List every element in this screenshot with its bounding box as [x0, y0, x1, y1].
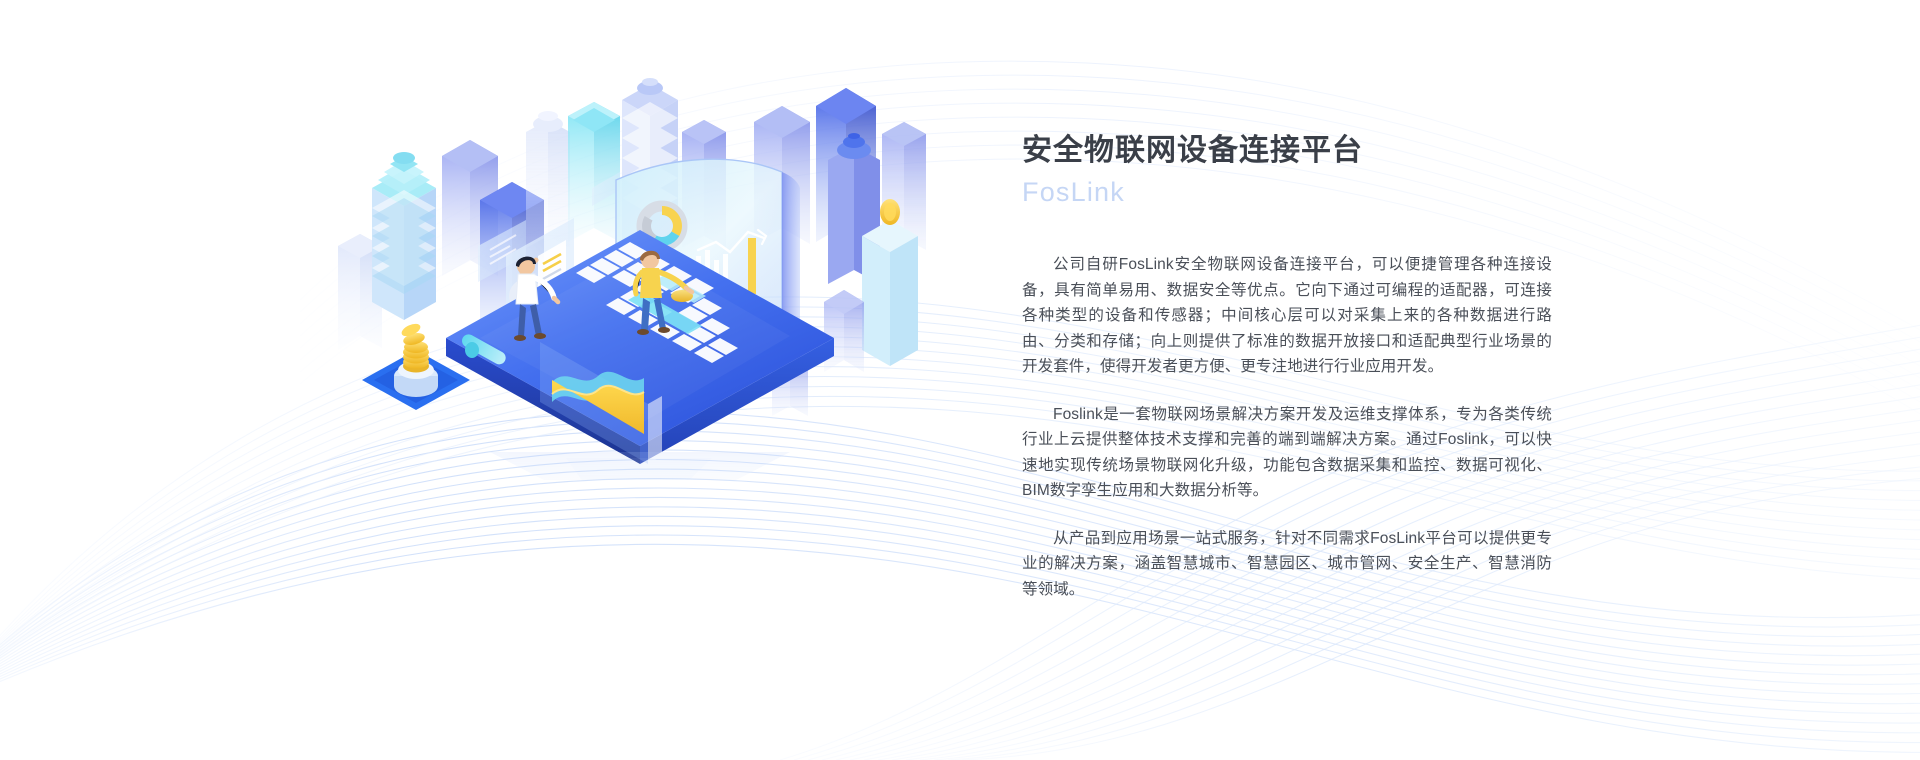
paragraph-2: Foslink是一套物联网场景解决方案开发及运维支撑体系，专为各类传统行业上云提… — [1022, 402, 1552, 504]
description-paragraphs: 公司自研FosLink安全物联网设备连接平台，可以便捷管理各种连接设备，具有简单… — [1022, 252, 1552, 602]
page-title: 安全物联网设备连接平台 — [1022, 132, 1562, 169]
pagoda-tower — [372, 152, 436, 320]
paragraph-1: 公司自研FosLink安全物联网设备连接平台，可以便捷管理各种连接设备，具有简单… — [1022, 252, 1552, 380]
hero-text-column: 安全物联网设备连接平台 FosLink 公司自研FosLink安全物联网设备连接… — [1022, 132, 1562, 602]
product-name-subtitle: FosLink — [1022, 175, 1562, 210]
paragraph-3: 从产品到应用场景一站式服务，针对不同需求FosLink平台可以提供更专业的解决方… — [1022, 526, 1552, 603]
isometric-iot-platform-illustration — [330, 60, 950, 480]
background-wave-lines — [0, 0, 1920, 760]
hero-illustration — [330, 60, 950, 480]
platform-reflection — [490, 452, 790, 480]
hero-section: 安全物联网设备连接平台 FosLink 公司自研FosLink安全物联网设备连接… — [0, 0, 1920, 760]
